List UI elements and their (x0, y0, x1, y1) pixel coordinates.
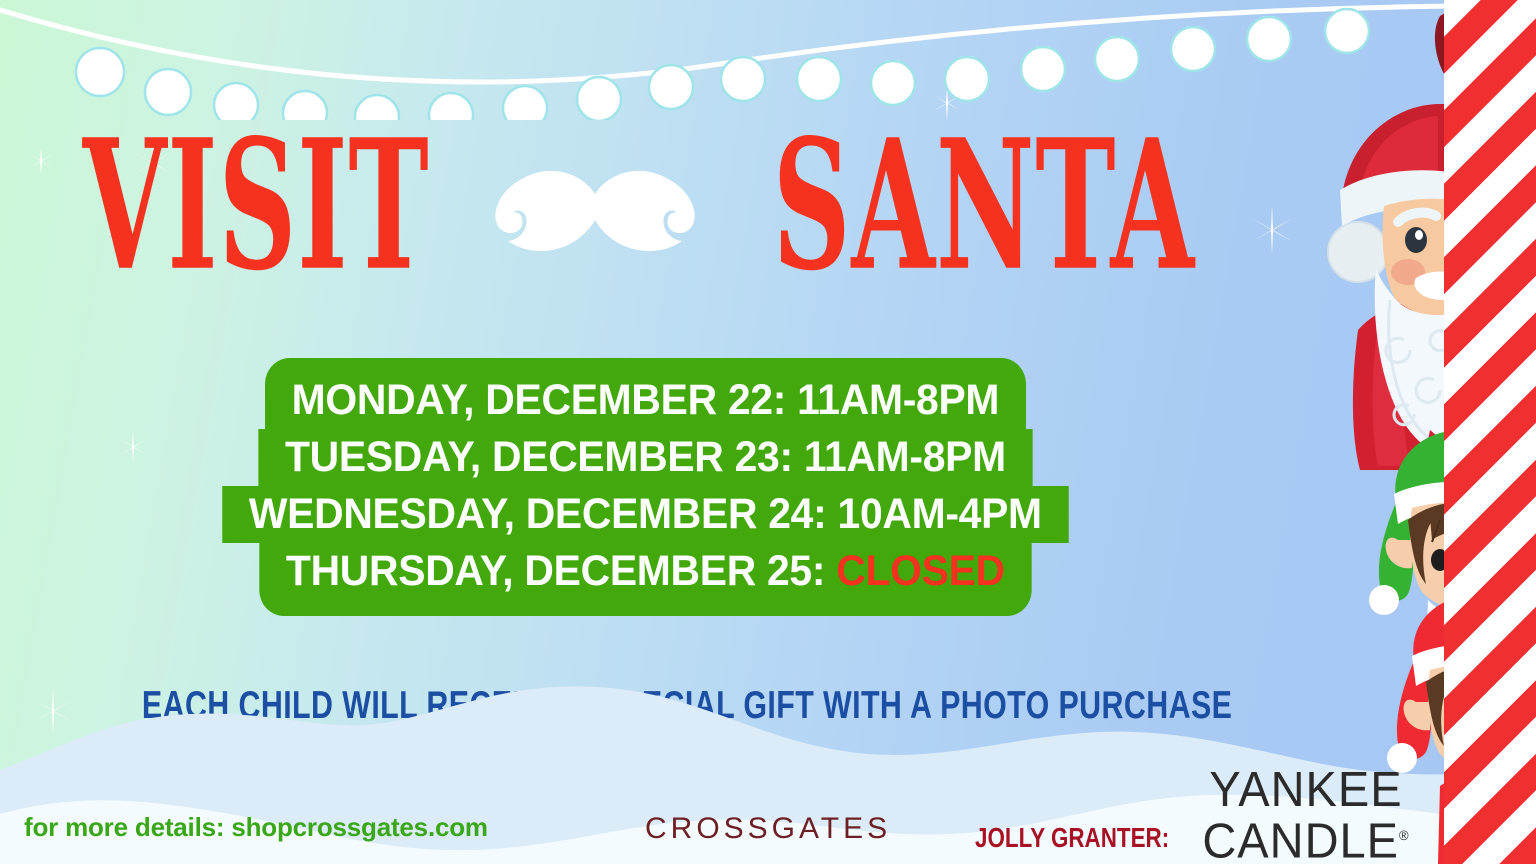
schedule-hours: 11AM-8PM (803, 433, 1005, 481)
schedule-hours: 10AM-4PM (837, 490, 1041, 538)
schedule-row: MONDAY, DECEMBER 22: 11AM-8PM (265, 358, 1026, 429)
page-title: VISIT SANTA (0, 126, 1290, 286)
schedule-day: TUESDAY, DECEMBER 23: (285, 433, 804, 481)
candy-stripe-panel-icon (1444, 0, 1536, 864)
mustache-icon (490, 168, 700, 258)
more-details-link[interactable]: for more details: shopcrossgates.com (24, 812, 488, 843)
schedule-panel: MONDAY, DECEMBER 22: 11AM-8PM TUESDAY, D… (0, 358, 1290, 616)
schedule-hours: 11AM-8PM (797, 376, 999, 424)
schedule-day: THURSDAY, DECEMBER 25: (286, 547, 836, 595)
sponsor-label: JOLLY GRANTER: (975, 822, 1169, 854)
poster-canvas: VISIT SANTA MONDAY, DECEMBER 22: 11AM-8P… (0, 0, 1536, 864)
schedule-row: TUESDAY, DECEMBER 23: 11AM-8PM (258, 429, 1032, 486)
title-word-visit: VISIT (83, 117, 430, 296)
title-word-santa: SANTA (773, 117, 1195, 296)
schedule-day: WEDNESDAY, DECEMBER 24: (249, 490, 838, 538)
schedule-day: MONDAY, DECEMBER 22: (291, 376, 797, 424)
schedule-row: THURSDAY, DECEMBER 25: CLOSED (259, 543, 1031, 616)
crossgates-logo: CROSSGATES (645, 812, 891, 846)
schedule-status-closed: CLOSED (836, 547, 1005, 595)
schedule-row: WEDNESDAY, DECEMBER 24: 10AM-4PM (222, 486, 1068, 543)
